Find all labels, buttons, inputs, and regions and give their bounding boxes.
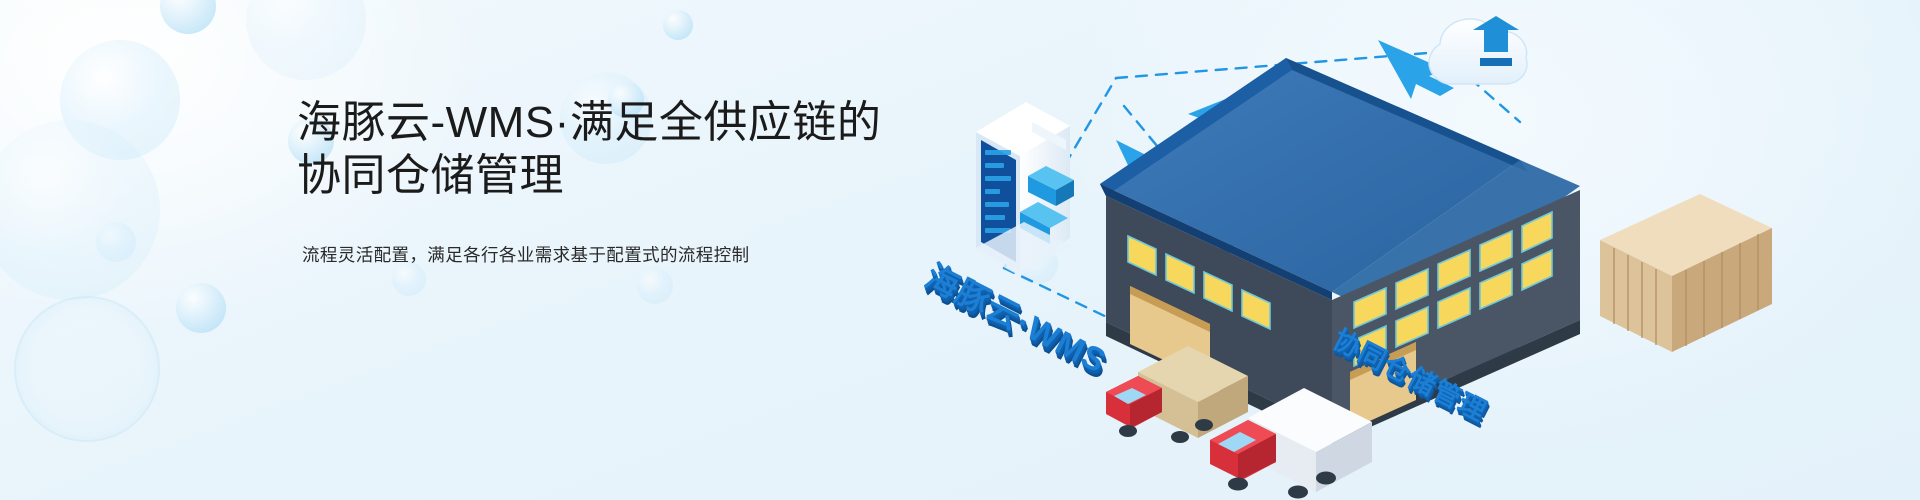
bubble-icon (96, 222, 136, 262)
bubble-icon (663, 10, 693, 40)
shipping-container-icon (1600, 194, 1772, 352)
bubble-icon (637, 268, 673, 304)
bubble-icon (60, 40, 180, 160)
server-rack-icon (972, 102, 1074, 276)
banner-copy: 海豚云-WMS·满足全供应链的 协同仓储管理 流程灵活配置，满足各行各业需求基于… (297, 96, 917, 268)
bubble-ring-icon (14, 296, 160, 442)
banner-headline: 海豚云-WMS·满足全供应链的 协同仓储管理 (297, 96, 917, 202)
banner-subtitle: 流程灵活配置，满足各行各业需求基于配置式的流程控制 (297, 202, 917, 268)
bubble-icon (176, 283, 226, 333)
bubble-icon (0, 120, 160, 300)
promo-banner: 海豚云-WMS·满足全供应链的 协同仓储管理 流程灵活配置，满足各行各业需求基于… (0, 0, 1920, 500)
isometric-illustration: 海豚云·WMS 协同仓储管理 (880, 0, 1920, 500)
bubble-icon (246, 0, 366, 80)
cloud-upload-icon (1429, 16, 1527, 84)
bubble-icon (160, 0, 216, 34)
